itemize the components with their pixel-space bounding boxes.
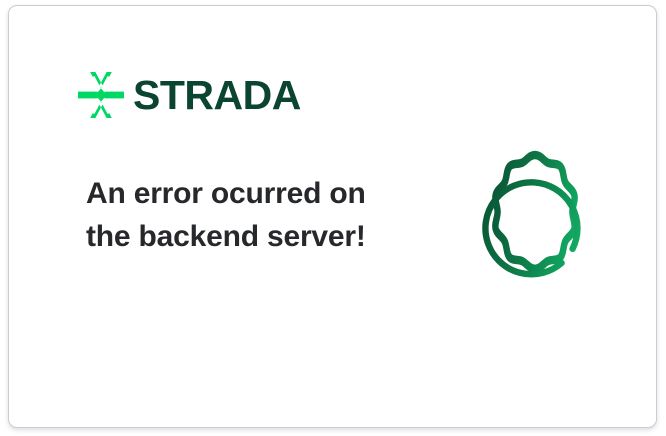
- strada-asterisk-icon: [78, 72, 124, 118]
- gear-illustration: [456, 148, 614, 308]
- brand-logo: STRADA: [78, 72, 301, 118]
- error-message: An error ocurred on the backend server!: [86, 172, 386, 258]
- brand-wordmark: STRADA: [133, 75, 301, 116]
- error-card: STRADA An error ocurred on the backend s…: [8, 5, 657, 428]
